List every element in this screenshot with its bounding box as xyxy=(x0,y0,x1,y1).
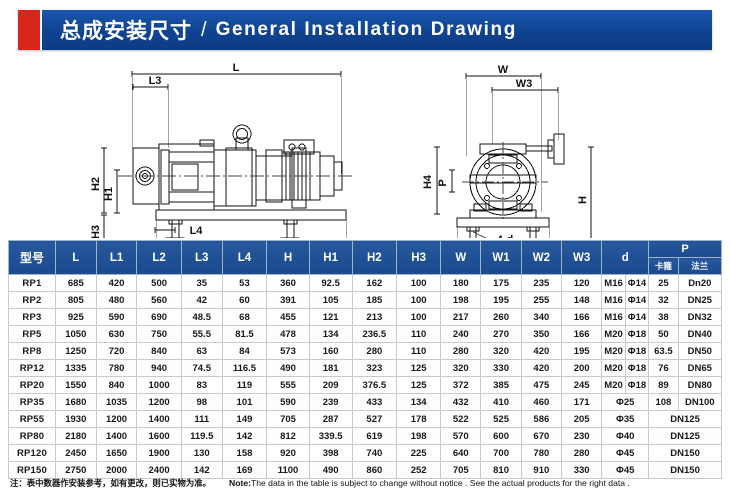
cell-p-clamp: 89 xyxy=(649,377,678,394)
cell-L4: 68 xyxy=(222,309,267,326)
cell-p-clamp: 63.5 xyxy=(649,343,678,360)
cell-L3: 83 xyxy=(181,377,222,394)
cell-L4: 158 xyxy=(222,445,267,462)
col-header-W: W xyxy=(441,241,481,275)
cell-H2: 236.5 xyxy=(352,326,397,343)
cell-p-clamp: 38 xyxy=(649,309,678,326)
cell-H1: 398 xyxy=(309,445,352,462)
cell-W3: 280 xyxy=(562,445,602,462)
cell-p-flange: DN65 xyxy=(678,360,721,377)
col-header-model: 型号 xyxy=(9,241,56,275)
cell-W1: 330 xyxy=(481,360,521,377)
col-header-L3: L3 xyxy=(181,241,222,275)
cell-L3: 142 xyxy=(181,462,222,479)
cell-H1: 121 xyxy=(309,309,352,326)
cell-L2: 1000 xyxy=(137,377,181,394)
cell-W: 320 xyxy=(441,360,481,377)
cell-L1: 480 xyxy=(96,292,137,309)
cell-L: 1335 xyxy=(55,360,96,377)
cell-L4: 169 xyxy=(222,462,267,479)
dim-label-W: W xyxy=(498,64,509,76)
cell-d2: Φ14 xyxy=(625,292,648,309)
cell-H3: 125 xyxy=(397,360,441,377)
cell-L: 925 xyxy=(55,309,96,326)
cell-W1: 525 xyxy=(481,411,521,428)
cell-model: RP5 xyxy=(9,326,56,343)
cell-H3: 110 xyxy=(397,326,441,343)
cell-d-span: Φ35 xyxy=(602,411,649,428)
cell-W2: 586 xyxy=(521,411,561,428)
cell-H: 391 xyxy=(267,292,310,309)
cell-H: 590 xyxy=(267,394,310,411)
cell-H: 478 xyxy=(267,326,310,343)
cell-L3: 98 xyxy=(181,394,222,411)
cell-H2: 740 xyxy=(352,445,397,462)
cell-H2: 619 xyxy=(352,428,397,445)
cell-L3: 55.5 xyxy=(181,326,222,343)
cell-L1: 630 xyxy=(96,326,137,343)
cell-L1: 1035 xyxy=(96,394,137,411)
cell-W: 570 xyxy=(441,428,481,445)
table-row: RP5105063075055.581.5478134236.511024027… xyxy=(9,326,722,343)
cell-L4: 101 xyxy=(222,394,267,411)
cell-d1: M20 xyxy=(602,377,625,394)
cell-W1: 600 xyxy=(481,428,521,445)
cell-L4: 142 xyxy=(222,428,267,445)
cell-H: 490 xyxy=(267,360,310,377)
cell-W2: 420 xyxy=(521,360,561,377)
cell-W1: 700 xyxy=(481,445,521,462)
cell-W: 180 xyxy=(441,275,481,292)
col-header-H2: H2 xyxy=(352,241,397,275)
cell-L: 1930 xyxy=(55,411,96,428)
cell-L: 2750 xyxy=(55,462,96,479)
cell-p-span: DN125 xyxy=(649,428,722,445)
cell-p-flange: DN32 xyxy=(678,309,721,326)
cell-H1: 490 xyxy=(309,462,352,479)
cell-L4: 119 xyxy=(222,377,267,394)
table-row: RP1685420500355336092.516210018017523512… xyxy=(9,275,722,292)
cell-model: RP20 xyxy=(9,377,56,394)
cell-model: RP120 xyxy=(9,445,56,462)
dim-label-H3: H3 xyxy=(90,225,102,238)
dim-label-P: P xyxy=(437,179,449,186)
cell-d1: M20 xyxy=(602,326,625,343)
cell-W3: 166 xyxy=(562,309,602,326)
cell-L4: 116.5 xyxy=(222,360,267,377)
cell-W1: 195 xyxy=(481,292,521,309)
cell-d2: Φ14 xyxy=(625,275,648,292)
cell-L2: 840 xyxy=(137,343,181,360)
cell-H2: 162 xyxy=(352,275,397,292)
cell-H3: 125 xyxy=(397,377,441,394)
cell-model: RP35 xyxy=(9,394,56,411)
cell-H: 812 xyxy=(267,428,310,445)
cell-L3: 63 xyxy=(181,343,222,360)
cell-p-clamp: 50 xyxy=(649,326,678,343)
table-row: RP12024501650190013015892039874022564070… xyxy=(9,445,722,462)
cell-L3: 74.5 xyxy=(181,360,222,377)
cell-model: RP150 xyxy=(9,462,56,479)
page-title-en: General Installation Drawing xyxy=(216,19,517,41)
table-row: RP81250720840638457316028011028032042019… xyxy=(9,343,722,360)
cell-L: 2450 xyxy=(55,445,96,462)
cell-H1: 239 xyxy=(309,394,352,411)
cell-H3: 110 xyxy=(397,343,441,360)
cell-p-span: DN125 xyxy=(649,411,722,428)
cell-H3: 198 xyxy=(397,428,441,445)
footer-note-cn: 注：表中数器作安装参考，如有更改，则已实物为准。 xyxy=(10,478,211,489)
cell-L: 1050 xyxy=(55,326,96,343)
col-header-P-flange: 法兰 xyxy=(678,258,721,275)
cell-W2: 235 xyxy=(521,275,561,292)
cell-L2: 1200 xyxy=(137,394,181,411)
cell-L4: 53 xyxy=(222,275,267,292)
cell-L3: 42 xyxy=(181,292,222,309)
cell-H: 573 xyxy=(267,343,310,360)
cell-L1: 590 xyxy=(96,309,137,326)
cell-W: 372 xyxy=(441,377,481,394)
cell-W2: 420 xyxy=(521,343,561,360)
footer-note-en: Note:The data in the table is subject to… xyxy=(229,478,630,489)
cell-d2: Φ18 xyxy=(625,326,648,343)
cell-L3: 111 xyxy=(181,411,222,428)
cell-W1: 385 xyxy=(481,377,521,394)
col-header-P-clamp: 卡箍 xyxy=(649,258,678,275)
cell-W: 198 xyxy=(441,292,481,309)
cell-d2: Φ18 xyxy=(625,360,648,377)
col-header-H: H xyxy=(267,241,310,275)
cell-d1: M16 xyxy=(602,275,625,292)
cell-d-span: Φ45 xyxy=(602,462,649,479)
cell-H1: 160 xyxy=(309,343,352,360)
cell-W3: 245 xyxy=(562,377,602,394)
cell-H2: 433 xyxy=(352,394,397,411)
cell-L2: 1600 xyxy=(137,428,181,445)
cell-W1: 320 xyxy=(481,343,521,360)
cell-H3: 100 xyxy=(397,309,441,326)
table-head: 型号 L L1 L2 L3 L4 H H1 H2 H3 W W1 W2 W3 d… xyxy=(9,241,722,275)
cell-L2: 1400 xyxy=(137,411,181,428)
cell-W1: 260 xyxy=(481,309,521,326)
cell-model: RP8 xyxy=(9,343,56,360)
cell-L: 1250 xyxy=(55,343,96,360)
table-row: RP12133578094074.5116.549018132312532033… xyxy=(9,360,722,377)
cell-L2: 750 xyxy=(137,326,181,343)
cell-p-flange: DN25 xyxy=(678,292,721,309)
dim-label-H4: H4 xyxy=(422,174,434,189)
cell-W1: 175 xyxy=(481,275,521,292)
cell-p-span: DN150 xyxy=(649,462,722,479)
col-header-W1: W1 xyxy=(481,241,521,275)
cell-L1: 1650 xyxy=(96,445,137,462)
cell-H: 455 xyxy=(267,309,310,326)
cell-L4: 149 xyxy=(222,411,267,428)
cell-L3: 130 xyxy=(181,445,222,462)
cell-L3: 48.5 xyxy=(181,309,222,326)
cell-model: RP12 xyxy=(9,360,56,377)
cell-d1: M20 xyxy=(602,343,625,360)
cell-W: 640 xyxy=(441,445,481,462)
cell-L: 685 xyxy=(55,275,96,292)
cell-W3: 230 xyxy=(562,428,602,445)
cell-H1: 339.5 xyxy=(309,428,352,445)
cell-model: RP1 xyxy=(9,275,56,292)
cell-d-span: Φ45 xyxy=(602,445,649,462)
title-banner: 总成安装尺寸 / General Installation Drawing xyxy=(18,10,712,50)
table-row: RP28054805604260391105185100198195255148… xyxy=(9,292,722,309)
dim-label-H2: H2 xyxy=(90,177,102,191)
cell-W3: 171 xyxy=(562,394,602,411)
cell-L1: 2000 xyxy=(96,462,137,479)
cell-H2: 323 xyxy=(352,360,397,377)
cell-L: 2180 xyxy=(55,428,96,445)
col-header-W3: W3 xyxy=(562,241,602,275)
col-header-d: d xyxy=(602,241,649,275)
cell-p-flange: DN50 xyxy=(678,343,721,360)
cell-H2: 527 xyxy=(352,411,397,428)
cell-H1: 209 xyxy=(309,377,352,394)
cell-L2: 940 xyxy=(137,360,181,377)
dim-label-L3: L3 xyxy=(149,75,162,87)
specification-table: 型号 L L1 L2 L3 L4 H H1 H2 H3 W W1 W2 W3 d… xyxy=(8,240,722,479)
cell-W3: 166 xyxy=(562,326,602,343)
col-header-L1: L1 xyxy=(96,241,137,275)
cell-d1: M16 xyxy=(602,292,625,309)
cell-H1: 181 xyxy=(309,360,352,377)
table-row: RP35168010351200981015902394331344324104… xyxy=(9,394,722,411)
technical-drawing: L L3 H2 H1 H3 L4 L1 L2 W W3 H4 P H 4-d W… xyxy=(0,52,730,238)
cell-H3: 100 xyxy=(397,275,441,292)
cell-H: 360 xyxy=(267,275,310,292)
cell-H: 705 xyxy=(267,411,310,428)
cell-W3: 200 xyxy=(562,360,602,377)
banner-accent-bar xyxy=(18,10,40,50)
cell-L4: 84 xyxy=(222,343,267,360)
cell-model: RP55 xyxy=(9,411,56,428)
cell-p-flange: DN80 xyxy=(678,377,721,394)
cell-L1: 780 xyxy=(96,360,137,377)
cell-W2: 340 xyxy=(521,309,561,326)
table-row: RP80218014001600119.5142812339.561919857… xyxy=(9,428,722,445)
cell-H3: 178 xyxy=(397,411,441,428)
col-header-L: L xyxy=(55,241,96,275)
cell-H2: 860 xyxy=(352,462,397,479)
dim-label-L: L xyxy=(233,62,240,74)
dim-label-H1: H1 xyxy=(103,187,115,201)
cell-d2: Φ18 xyxy=(625,377,648,394)
col-header-W2: W2 xyxy=(521,241,561,275)
footer-note-en-label: Note: xyxy=(229,478,251,488)
cell-H2: 280 xyxy=(352,343,397,360)
cell-L1: 1200 xyxy=(96,411,137,428)
cell-W3: 148 xyxy=(562,292,602,309)
cell-H1: 287 xyxy=(309,411,352,428)
cell-d2: Φ18 xyxy=(625,343,648,360)
cell-W2: 475 xyxy=(521,377,561,394)
cell-p-flange: DN100 xyxy=(678,394,721,411)
cell-H: 920 xyxy=(267,445,310,462)
table-row: RP55193012001400111149705287527178522525… xyxy=(9,411,722,428)
cell-H: 555 xyxy=(267,377,310,394)
table-row: RP392559069048.5684551212131002172603401… xyxy=(9,309,722,326)
table-row: RP15027502000240014216911004908602527058… xyxy=(9,462,722,479)
cell-W3: 195 xyxy=(562,343,602,360)
cell-H1: 92.5 xyxy=(309,275,352,292)
page-title-cn: 总成安装尺寸 xyxy=(60,15,192,45)
cell-W2: 780 xyxy=(521,445,561,462)
cell-p-span: DN150 xyxy=(649,445,722,462)
cell-H1: 105 xyxy=(309,292,352,309)
cell-H3: 134 xyxy=(397,394,441,411)
cell-W1: 410 xyxy=(481,394,521,411)
dim-label-H-side: H xyxy=(577,196,589,204)
col-header-P-group: P xyxy=(649,241,722,258)
cell-L3: 119.5 xyxy=(181,428,222,445)
cell-p-clamp: 108 xyxy=(649,394,678,411)
cell-L: 1550 xyxy=(55,377,96,394)
cell-H2: 213 xyxy=(352,309,397,326)
cell-p-flange: Dn20 xyxy=(678,275,721,292)
cell-L2: 690 xyxy=(137,309,181,326)
cell-W2: 910 xyxy=(521,462,561,479)
cell-L3: 35 xyxy=(181,275,222,292)
table-body: RP1685420500355336092.516210018017523512… xyxy=(9,275,722,479)
cell-d1: M20 xyxy=(602,360,625,377)
table-header-row-1: 型号 L L1 L2 L3 L4 H H1 H2 H3 W W1 W2 W3 d… xyxy=(9,241,722,258)
cell-model: RP2 xyxy=(9,292,56,309)
cell-d2: Φ14 xyxy=(625,309,648,326)
cell-W3: 120 xyxy=(562,275,602,292)
cell-W2: 350 xyxy=(521,326,561,343)
cell-L1: 1400 xyxy=(96,428,137,445)
cell-H1: 134 xyxy=(309,326,352,343)
cell-W: 280 xyxy=(441,343,481,360)
banner-bar: 总成安装尺寸 / General Installation Drawing xyxy=(40,10,712,50)
cell-W1: 270 xyxy=(481,326,521,343)
dim-label-W3: W3 xyxy=(516,78,533,90)
cell-model: RP80 xyxy=(9,428,56,445)
cell-W: 432 xyxy=(441,394,481,411)
cell-W2: 255 xyxy=(521,292,561,309)
cell-p-clamp: 76 xyxy=(649,360,678,377)
specification-table-wrapper: 型号 L L1 L2 L3 L4 H H1 H2 H3 W W1 W2 W3 d… xyxy=(8,240,722,479)
title-separator: / xyxy=(201,19,207,42)
cell-H2: 185 xyxy=(352,292,397,309)
cell-H3: 225 xyxy=(397,445,441,462)
cell-H2: 376.5 xyxy=(352,377,397,394)
cell-L2: 1900 xyxy=(137,445,181,462)
cell-L2: 2400 xyxy=(137,462,181,479)
cell-W: 240 xyxy=(441,326,481,343)
cell-W3: 205 xyxy=(562,411,602,428)
cell-d-span: Φ25 xyxy=(602,394,649,411)
cell-L1: 420 xyxy=(96,275,137,292)
cell-L2: 560 xyxy=(137,292,181,309)
dim-label-L4: L4 xyxy=(190,225,204,237)
footer-note: 注：表中数器作安装参考，如有更改，则已实物为准。 Note:The data i… xyxy=(10,478,726,489)
cell-p-flange: DN40 xyxy=(678,326,721,343)
cell-L1: 720 xyxy=(96,343,137,360)
cell-W: 522 xyxy=(441,411,481,428)
cell-L2: 500 xyxy=(137,275,181,292)
cell-L1: 840 xyxy=(96,377,137,394)
cell-L4: 81.5 xyxy=(222,326,267,343)
cell-L4: 60 xyxy=(222,292,267,309)
col-header-L2: L2 xyxy=(137,241,181,275)
col-header-L4: L4 xyxy=(222,241,267,275)
cell-W: 705 xyxy=(441,462,481,479)
cell-d-span: Φ40 xyxy=(602,428,649,445)
cell-L: 805 xyxy=(55,292,96,309)
cell-W2: 460 xyxy=(521,394,561,411)
cell-d1: M16 xyxy=(602,309,625,326)
cell-W1: 810 xyxy=(481,462,521,479)
cell-H3: 100 xyxy=(397,292,441,309)
footer-note-en-text: The data in the table is subject to chan… xyxy=(251,478,630,488)
cell-model: RP3 xyxy=(9,309,56,326)
cell-W2: 670 xyxy=(521,428,561,445)
col-header-H3: H3 xyxy=(397,241,441,275)
cell-H: 1100 xyxy=(267,462,310,479)
col-header-H1: H1 xyxy=(309,241,352,275)
cell-L: 1680 xyxy=(55,394,96,411)
cell-p-clamp: 25 xyxy=(649,275,678,292)
cell-W3: 330 xyxy=(562,462,602,479)
cell-p-clamp: 32 xyxy=(649,292,678,309)
table-row: RP201550840100083119555209376.5125372385… xyxy=(9,377,722,394)
cell-H3: 252 xyxy=(397,462,441,479)
cell-W: 217 xyxy=(441,309,481,326)
dim-label-4-d: 4-d xyxy=(497,234,514,238)
